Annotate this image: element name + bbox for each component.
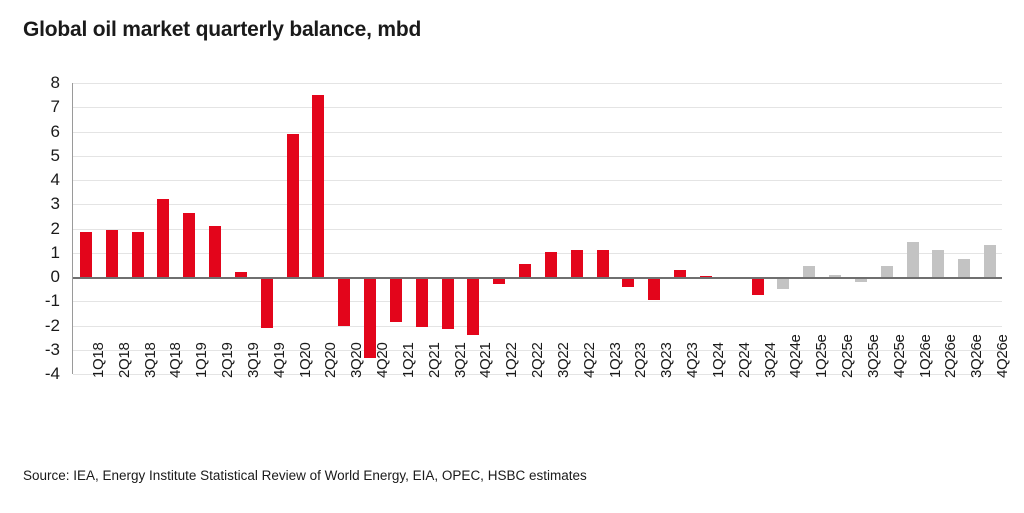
x-axis-tick-label: 3Q18 bbox=[125, 376, 149, 468]
bar-4Q22 bbox=[571, 250, 583, 277]
x-axis-tick-label: 2Q24 bbox=[719, 376, 743, 468]
y-axis-tick-label: 1 bbox=[51, 243, 60, 263]
source-note: Source: IEA, Energy Institute Statistica… bbox=[23, 468, 587, 483]
bar-3Q23 bbox=[648, 277, 660, 300]
bar-4Q24e bbox=[777, 277, 789, 289]
bar-2Q26e bbox=[932, 250, 944, 277]
x-axis-tick-label: 4Q25e bbox=[874, 376, 898, 468]
x-axis-tick-label: 1Q18 bbox=[73, 376, 97, 468]
x-axis: 1Q182Q183Q184Q181Q192Q193Q194Q191Q202Q20… bbox=[72, 376, 1002, 468]
y-axis-tick-label: -3 bbox=[45, 340, 60, 360]
x-axis-tick-label: 4Q24e bbox=[770, 376, 794, 468]
bar-2Q19 bbox=[209, 226, 221, 277]
bar-4Q18 bbox=[157, 199, 169, 277]
bar-4Q19 bbox=[261, 277, 273, 328]
x-axis-tick-label: 3Q24 bbox=[745, 376, 769, 468]
bars-layer bbox=[73, 83, 1002, 374]
y-axis-tick-label: 2 bbox=[51, 219, 60, 239]
plot-area bbox=[72, 83, 1002, 374]
bar-1Q21 bbox=[390, 277, 402, 322]
bar-1Q20 bbox=[287, 134, 299, 277]
y-axis-tick-label: -1 bbox=[45, 291, 60, 311]
bar-2Q20 bbox=[312, 95, 324, 277]
x-axis-tick-label: 3Q20 bbox=[331, 376, 355, 468]
y-axis-tick-label: 6 bbox=[51, 122, 60, 142]
x-axis-tick-label: 2Q22 bbox=[512, 376, 536, 468]
y-axis-tick-label: 5 bbox=[51, 146, 60, 166]
x-axis-tick-label: 3Q19 bbox=[228, 376, 252, 468]
x-axis-tick-label: 3Q21 bbox=[435, 376, 459, 468]
bar-3Q20 bbox=[338, 277, 350, 326]
bar-1Q25e bbox=[803, 266, 815, 277]
y-axis-tick-label: 8 bbox=[51, 73, 60, 93]
bar-1Q23 bbox=[597, 250, 609, 277]
bar-2Q22 bbox=[519, 264, 531, 277]
x-axis-tick-label: 4Q22 bbox=[564, 376, 588, 468]
x-axis-tick-label: 4Q18 bbox=[150, 376, 174, 468]
bar-4Q21 bbox=[467, 277, 479, 335]
bar-4Q23 bbox=[674, 270, 686, 277]
x-axis-tick-label: 4Q19 bbox=[254, 376, 278, 468]
x-axis-tick-label: 1Q20 bbox=[280, 376, 304, 468]
y-axis-tick-label: 7 bbox=[51, 97, 60, 117]
x-axis-tick-label: 1Q19 bbox=[176, 376, 200, 468]
bar-4Q25e bbox=[881, 266, 893, 277]
x-axis-tick-label: 4Q26e bbox=[977, 376, 1001, 468]
x-axis-tick-label: 3Q25e bbox=[848, 376, 872, 468]
y-axis: 876543210-1-2-3-4 bbox=[30, 83, 66, 374]
y-axis-tick-label: -2 bbox=[45, 316, 60, 336]
x-axis-tick-label: 2Q20 bbox=[305, 376, 329, 468]
x-axis-tick-label: 1Q23 bbox=[590, 376, 614, 468]
x-axis-tick-label: 2Q26e bbox=[925, 376, 949, 468]
bar-1Q18 bbox=[80, 232, 92, 277]
x-axis-tick-label: 3Q22 bbox=[538, 376, 562, 468]
bar-3Q24 bbox=[752, 277, 764, 295]
y-axis-tick-label: 0 bbox=[51, 267, 60, 287]
x-axis-tick-label: 1Q26e bbox=[900, 376, 924, 468]
x-axis-tick-label: 3Q26e bbox=[951, 376, 975, 468]
x-axis-tick-label: 3Q23 bbox=[641, 376, 665, 468]
bar-3Q22 bbox=[545, 252, 557, 277]
x-axis-tick-label: 1Q21 bbox=[383, 376, 407, 468]
bar-1Q26e bbox=[907, 242, 919, 277]
x-axis-tick-label: 2Q25e bbox=[822, 376, 846, 468]
y-axis-tick-label: 4 bbox=[51, 170, 60, 190]
x-axis-tick-label: 4Q23 bbox=[667, 376, 691, 468]
x-axis-tick-label: 2Q23 bbox=[615, 376, 639, 468]
x-axis-tick-label: 4Q20 bbox=[357, 376, 381, 468]
bar-3Q26e bbox=[958, 259, 970, 277]
bar-2Q21 bbox=[416, 277, 428, 327]
x-axis-tick-label: 4Q21 bbox=[460, 376, 484, 468]
x-axis-tick-label: 1Q24 bbox=[693, 376, 717, 468]
x-axis-tick-label: 2Q21 bbox=[409, 376, 433, 468]
chart-page: Global oil market quarterly balance, mbd… bbox=[0, 0, 1024, 513]
x-axis-tick-label: 1Q22 bbox=[486, 376, 510, 468]
x-axis-tick-label: 2Q19 bbox=[202, 376, 226, 468]
page-title: Global oil market quarterly balance, mbd bbox=[23, 18, 421, 42]
y-axis-tick-label: 3 bbox=[51, 194, 60, 214]
bar-3Q21 bbox=[442, 277, 454, 329]
bar-2Q18 bbox=[106, 230, 118, 277]
zero-line bbox=[73, 277, 1002, 279]
x-axis-tick-label: 2Q18 bbox=[99, 376, 123, 468]
bar-4Q20 bbox=[364, 277, 376, 358]
y-axis-tick-label: -4 bbox=[45, 364, 60, 384]
bar-4Q26e bbox=[984, 245, 996, 277]
x-axis-tick-label: 1Q25e bbox=[796, 376, 820, 468]
bar-3Q18 bbox=[132, 232, 144, 277]
bar-1Q19 bbox=[183, 213, 195, 277]
